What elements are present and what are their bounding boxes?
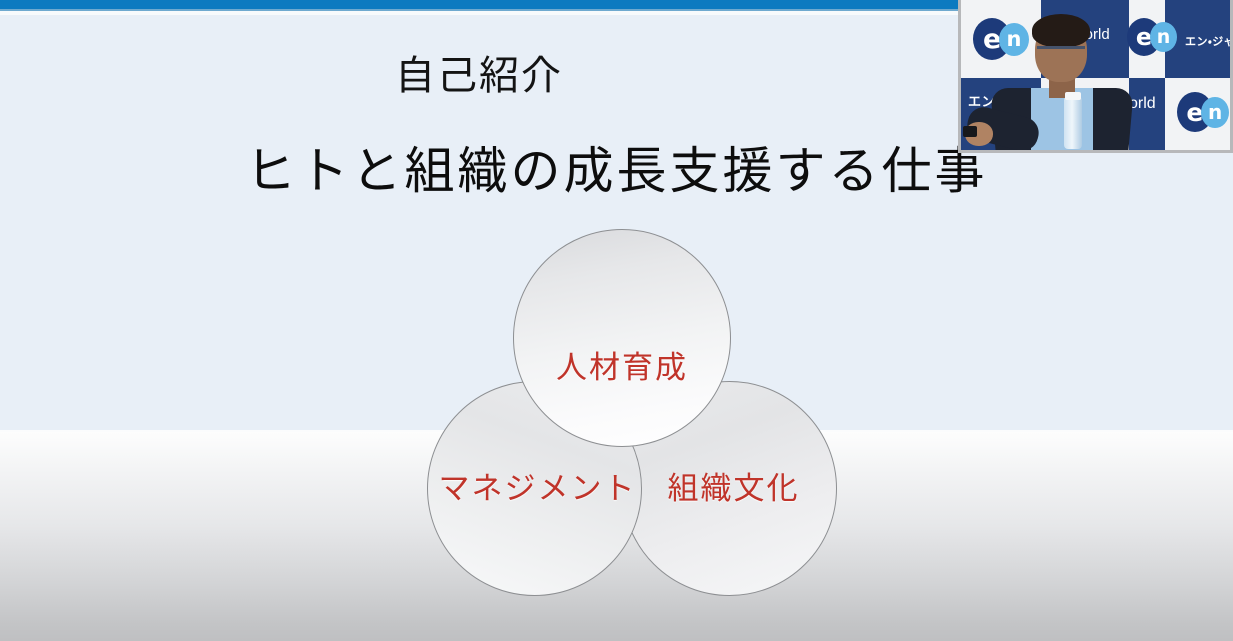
speaker-video-frame: e n en world e n エン・ジャパン エン・ジャパン orld e … [961,0,1230,150]
speaker-video-overlay[interactable]: e n en world e n エン・ジャパン エン・ジャパン orld e … [958,0,1233,153]
en-japan-text: エン・ジャパン [1185,33,1230,49]
presenter-hair [1032,14,1090,47]
en-logo-icon: e n [1127,18,1177,56]
glasses-icon [1037,46,1085,54]
en-logo-icon: e n [973,18,1029,60]
water-bottle [1064,97,1082,149]
venn-circle-hrd-label: 人材育成 [556,342,688,387]
backdrop-tile-navy [1129,78,1165,150]
en-logo-icon: e n [1177,92,1229,132]
venn-circle-hrd: 人材育成 [513,229,731,447]
presentation-screen: 自己紹介 ヒトと組織の成長支援する仕事 組織文化 マネジメント 人材育成 [0,0,1233,641]
presenter-remote [963,126,977,137]
world-text: orld [1129,95,1156,113]
water-bottle-cap [1065,92,1081,100]
venn-circle-culture-label: 組織文化 [668,463,800,508]
venn-circle-management-label: マネジメント [439,463,637,508]
